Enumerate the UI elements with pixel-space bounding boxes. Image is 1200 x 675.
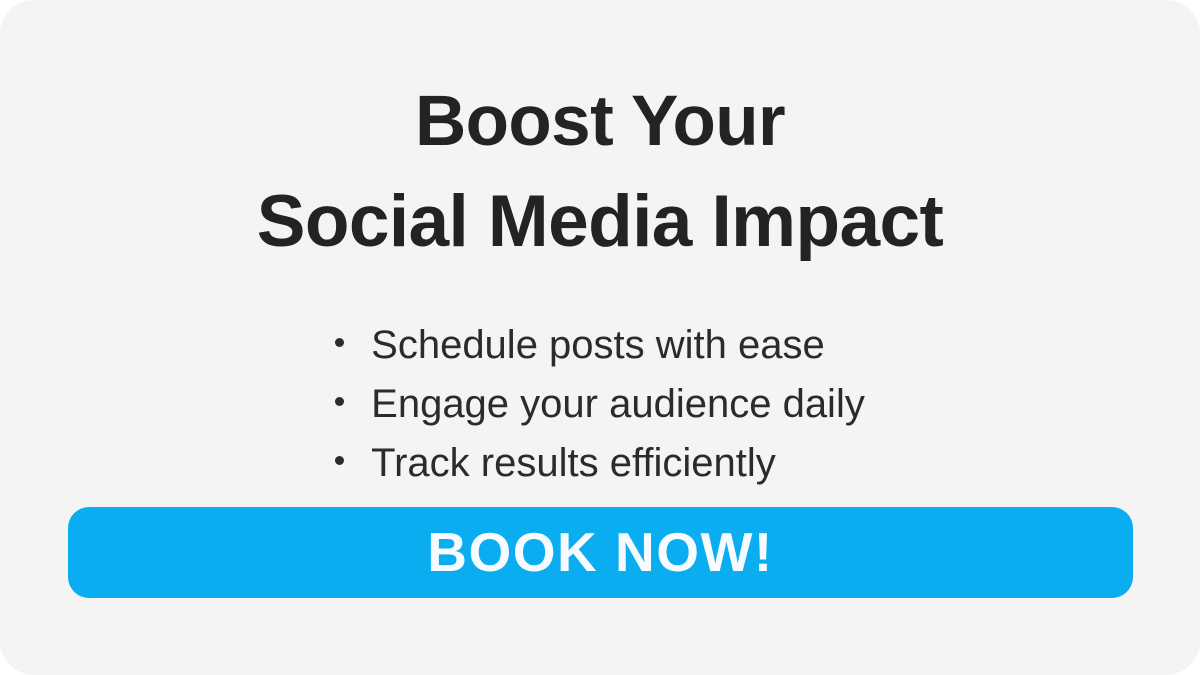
bullet-icon	[335, 456, 344, 465]
list-item: Engage your audience daily	[335, 375, 865, 434]
benefits-list: Schedule posts with ease Engage your aud…	[0, 316, 1200, 493]
list-item-label: Schedule posts with ease	[371, 316, 825, 375]
list-item-label: Track results efficiently	[371, 434, 776, 493]
headline-line-1: Boost Your	[0, 72, 1200, 172]
page-title: Boost Your Social Media Impact	[0, 72, 1200, 272]
cta-container: BOOK NOW!	[68, 507, 1133, 598]
book-now-button[interactable]: BOOK NOW!	[68, 507, 1133, 598]
list-item: Schedule posts with ease	[335, 316, 825, 375]
headline-line-2: Social Media Impact	[0, 172, 1200, 272]
bullet-icon	[335, 338, 344, 347]
benefits-list-inner: Schedule posts with ease Engage your aud…	[335, 316, 865, 493]
bullet-icon	[335, 397, 344, 406]
list-item-label: Engage your audience daily	[371, 375, 865, 434]
list-item: Track results efficiently	[335, 434, 776, 493]
promo-card: Boost Your Social Media Impact Schedule …	[0, 0, 1200, 675]
